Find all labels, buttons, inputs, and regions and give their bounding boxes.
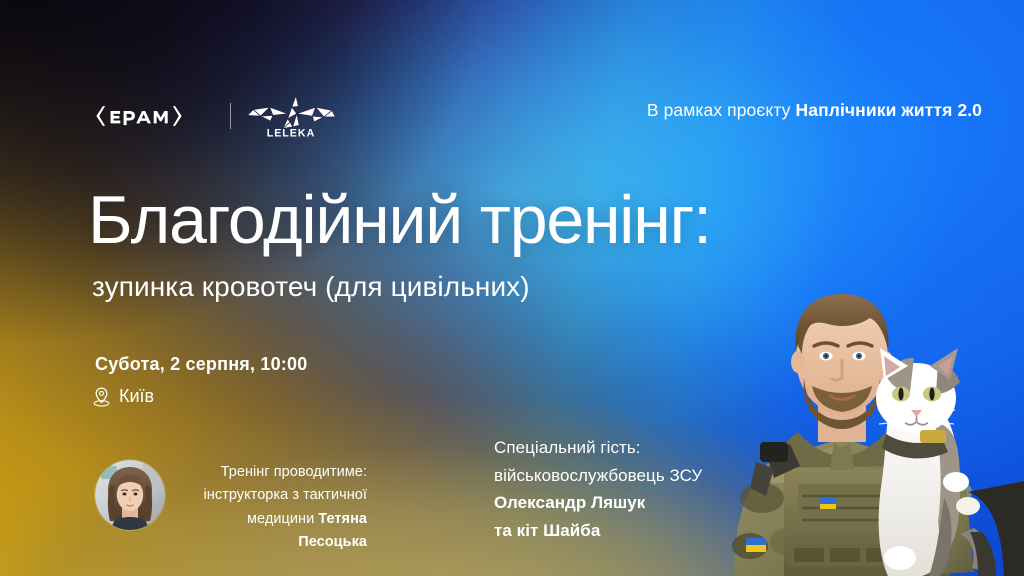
brand-lockup: LELEKA bbox=[95, 92, 337, 140]
guest-companion: та кіт Шайба bbox=[494, 517, 702, 545]
event-location-label: Київ bbox=[119, 386, 154, 407]
trainer-line-2: інструкторка з тактичної bbox=[181, 484, 367, 507]
project-tagline: В рамках проєкту Наплічники життя 2.0 bbox=[647, 100, 982, 121]
guest-name: Олександр Ляшук bbox=[494, 489, 702, 517]
guest-block: Спеціальний гість: військовослужбовець З… bbox=[494, 434, 702, 544]
brand-separator bbox=[230, 103, 231, 129]
svg-text:LELEKA: LELEKA bbox=[267, 128, 316, 140]
event-location: Київ bbox=[92, 386, 154, 407]
trainer-description: Тренінг проводитиме: інструкторка з такт… bbox=[181, 452, 367, 555]
trainer-block: Тренінг проводитиме: інструкторка з такт… bbox=[95, 452, 367, 555]
epam-logo-icon bbox=[95, 105, 216, 127]
banner-header: LELEKA В рамках проєкту Наплічники життя… bbox=[0, 0, 1024, 160]
trainer-avatar bbox=[95, 460, 165, 530]
project-prefix: В рамках проєкту bbox=[647, 100, 796, 120]
guest-line-2: військовослужбовець ЗСУ bbox=[494, 462, 702, 490]
project-name: Наплічники життя 2.0 bbox=[796, 100, 983, 120]
trainer-line-1: Тренінг проводитиме: bbox=[181, 461, 367, 484]
guest-line-1: Спеціальний гість: bbox=[494, 434, 702, 462]
page-title: Благодійний тренінг: bbox=[88, 186, 711, 254]
page-subtitle: зупинка кровотеч (для цивільних) bbox=[92, 271, 530, 303]
map-pin-icon bbox=[92, 386, 111, 407]
trainer-line-3-prefix: медицини bbox=[247, 511, 318, 527]
avatar-portrait-image bbox=[95, 460, 165, 530]
trainer-line-3: медицини Тетяна Песоцька bbox=[181, 508, 367, 555]
leleka-logo-icon: LELEKA bbox=[245, 94, 337, 140]
event-datetime: Субота, 2 серпня, 10:00 bbox=[95, 354, 307, 375]
event-banner: LELEKA В рамках проєкту Наплічники життя… bbox=[0, 0, 1024, 576]
